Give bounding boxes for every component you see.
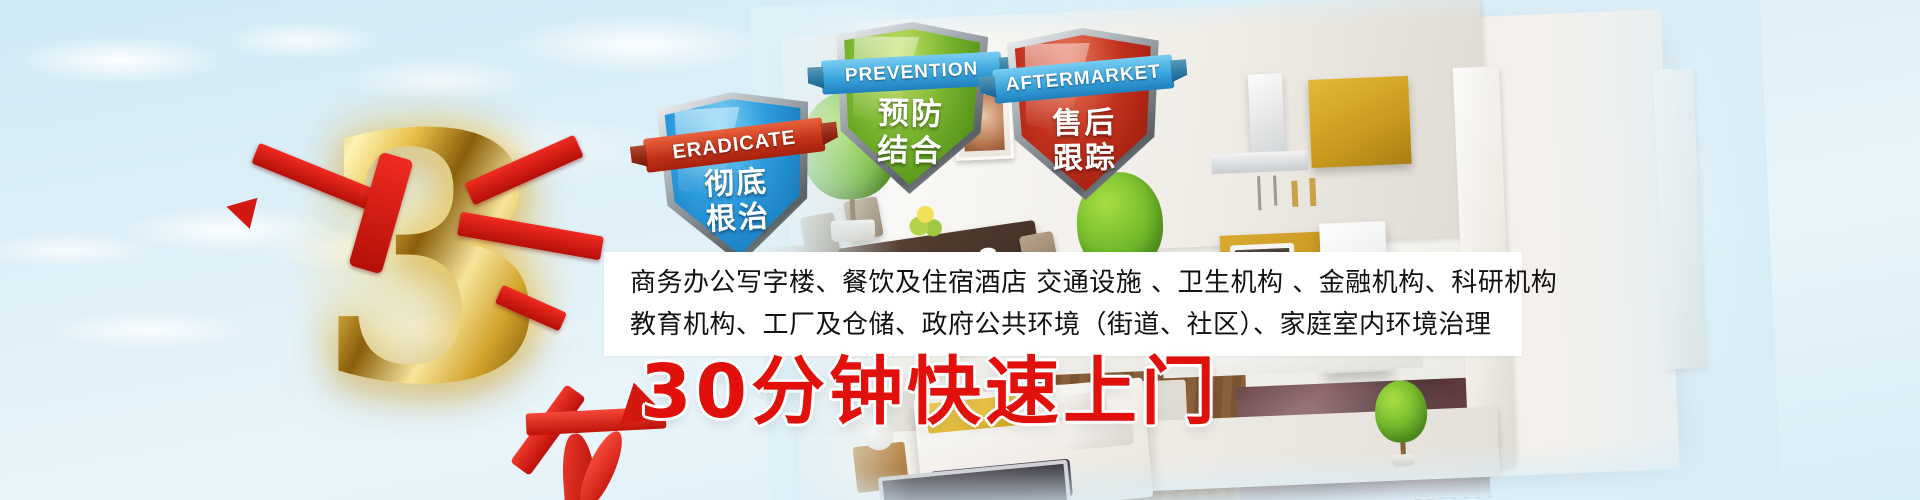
shield-chinese-text: 预防 结合 — [834, 95, 987, 171]
headline-text: 30分钟快速上门 — [640, 355, 1219, 429]
shield-cn-line2: 结合 — [834, 131, 987, 170]
service-scope-line-2: 教育机构、工厂及仓储、政府公共环境（街道、社区）、家庭室内环境治理 — [630, 304, 1496, 346]
shield-badge-prevention: 预防 结合 PREVENTION — [834, 21, 989, 196]
shield-chinese-text: 售后 跟踪 — [1008, 105, 1161, 178]
service-scope-line-1: 商务办公写字楼、餐饮及住宿酒店 交通设施 、卫生机构 、金融机构、科研机构 — [630, 262, 1496, 304]
shield-badge-eradicate: 彻底 根治 ERADICATE — [656, 88, 817, 268]
promo-banner: 3 彻底 根治 ERADICATE — [0, 0, 1920, 500]
shield-cn-line1: 售后 — [1008, 105, 1161, 143]
shield-cn-line1: 预防 — [835, 95, 988, 134]
shield-cn-line2: 根治 — [661, 197, 815, 240]
shield-chinese-text: 彻底 根治 — [659, 162, 814, 241]
shield-cn-line2: 跟踪 — [1008, 140, 1161, 178]
shield-ribbon-label: PREVENTION — [844, 59, 978, 88]
service-scope-panel: 商务办公写字楼、餐饮及住宿酒店 交通设施 、卫生机构 、金融机构、科研机构 教育… — [604, 252, 1522, 356]
shield-badge-aftermarket: 售后 跟踪 AFTERMARKET — [1007, 27, 1162, 202]
